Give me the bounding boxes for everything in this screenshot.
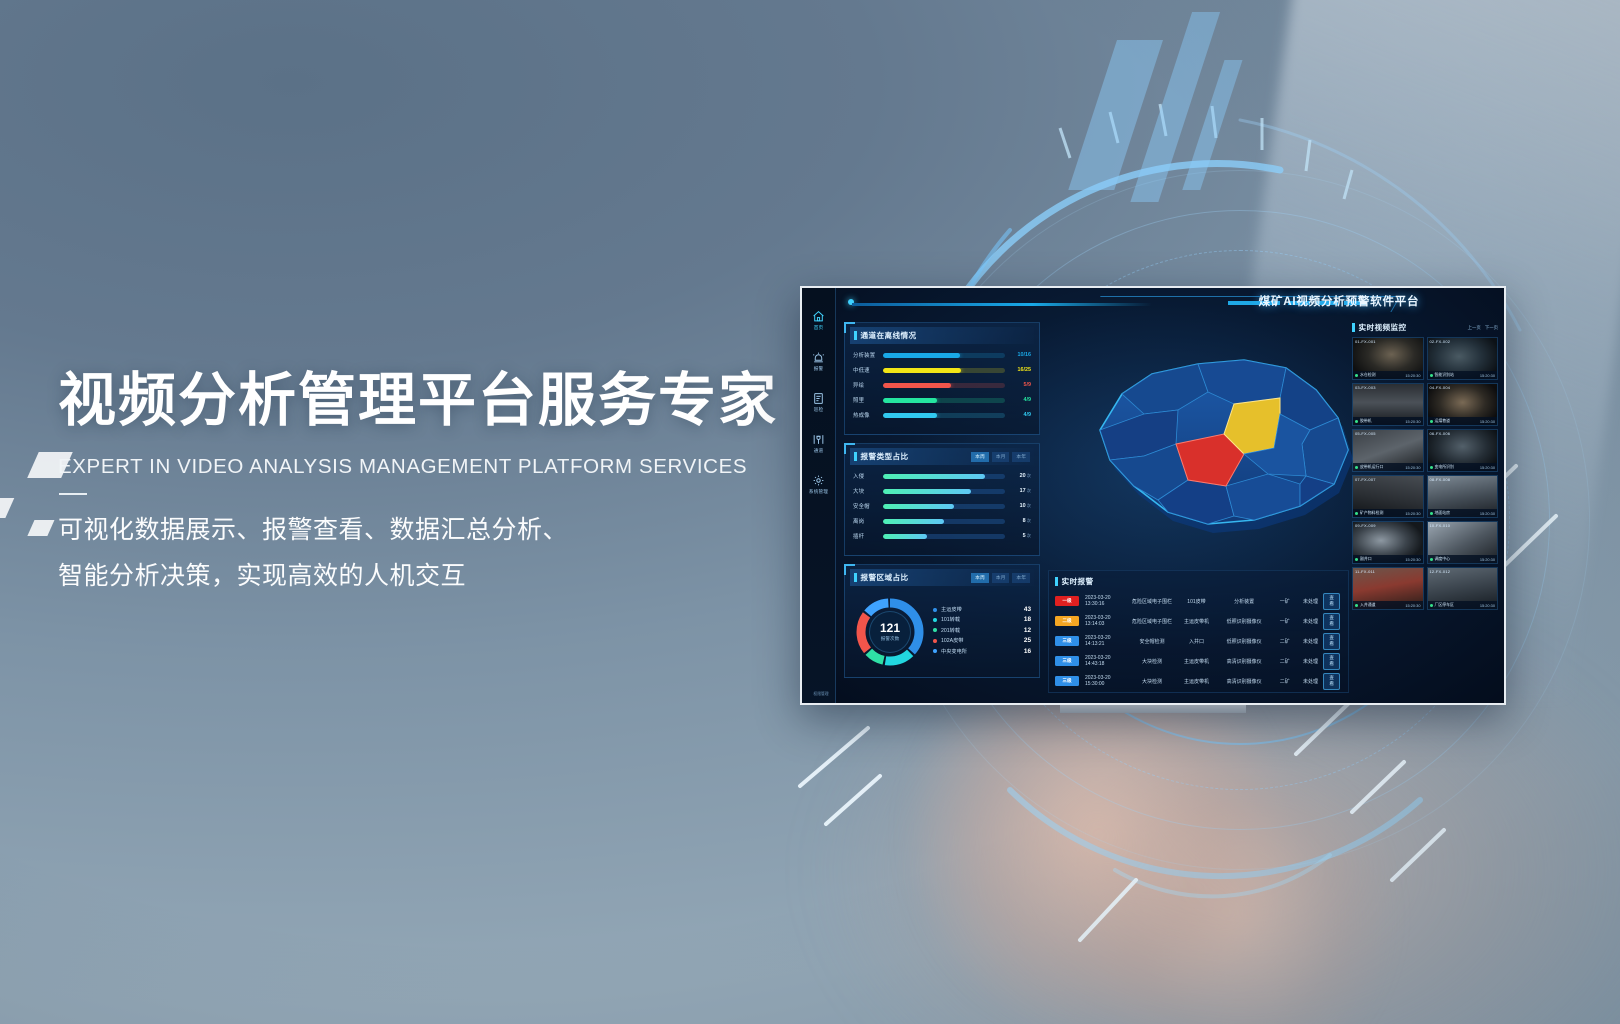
video-monitor-panel: 实时视频监控 上一页 下一页 01-FX-001 水仓检测 15:20:30 0… (1352, 322, 1498, 693)
alarm-action-cell: 查看 (1323, 593, 1342, 610)
video-panel-header: 实时视频监控 上一页 下一页 (1352, 322, 1498, 333)
video-tile-code: 11-FX-011 (1355, 569, 1375, 574)
channel-row-fill (883, 353, 960, 358)
video-status-dot (1355, 466, 1358, 469)
alarm-time: 2023-03-20 13:14:03 (1079, 615, 1128, 627)
dashboard-title: 煤矿AI视频分析预警软件平台 (1174, 288, 1504, 316)
video-status-dot (1355, 374, 1358, 377)
video-status-dot (1430, 466, 1433, 469)
video-tile[interactable]: 02-FX-002 智能识别站 15:20:30 (1427, 337, 1499, 380)
panel-tab[interactable]: 本年 (1012, 573, 1030, 583)
video-tile-footer: 入井通道 15:20:30 (1353, 601, 1423, 609)
video-tile-time: 15:20:30 (1480, 465, 1495, 470)
video-tile-time: 15:20:30 (1405, 419, 1420, 424)
channel-row-fill (883, 398, 937, 403)
sidebar-item-alarm[interactable]: 报警 (804, 351, 834, 372)
channel-row-label: 照里 (853, 396, 883, 404)
video-status-dot (1430, 374, 1433, 377)
video-tile[interactable]: 05-FX-005 皮带机运行口 15:20:30 (1352, 429, 1424, 472)
alarm-type: 大块检测 (1128, 678, 1177, 685)
sidebar-item-home[interactable]: 首页 (804, 310, 834, 331)
video-tile-footer: 调度中心 15:20:30 (1428, 555, 1498, 563)
alarm-type-row-value: 5 次 (1005, 533, 1031, 539)
alarm-type-title: 报警类型占比 (861, 451, 909, 462)
video-tile-name: 胶带机 (1360, 418, 1372, 424)
alarm-channel: 主运皮带机 (1177, 658, 1217, 665)
legend-label: 102A皮带 (941, 637, 1024, 644)
table-row[interactable]: 三级 2023-03-20 14:43:18 大块检测 主运皮带机 高清识别摄像… (1055, 651, 1342, 671)
legend-value: 16 (1024, 648, 1031, 655)
video-tile-footer: 水仓检测 15:20:30 (1353, 371, 1423, 379)
divider (59, 493, 87, 495)
video-tile[interactable]: 04-FX-004 运煤巷道 15:20:30 (1427, 383, 1499, 426)
legend-color-dot (933, 618, 937, 622)
legend-label: 主运皮带 (941, 606, 1024, 613)
dashboard-screen: 首页 报警 巡检 通道 系统管理 权限管理 (802, 288, 1504, 703)
alarm-icon (812, 351, 825, 364)
channel-row-value: 16/25 (1005, 367, 1031, 373)
video-tile-time: 15:20:30 (1480, 603, 1495, 608)
alarm-channel: 主运皮带机 (1177, 618, 1217, 625)
video-tile[interactable]: 06-FX-006 变电所识别 15:20:30 (1427, 429, 1499, 472)
title-accent-bar (854, 331, 857, 340)
realtime-alarm-panel: 实时报警 一级 2023-03-20 13:30:16 危险区域电子围栏 101… (1048, 570, 1349, 693)
alarm-status: 未处理 (1298, 618, 1324, 625)
status-badge: 三级 (1055, 676, 1079, 686)
video-tile-name: 厂区停车区 (1435, 602, 1454, 608)
alarm-type: 危险区域电子围栏 (1128, 598, 1177, 605)
hero-description-line-2: 智能分析决策，实现高效的人机交互 (58, 553, 818, 599)
alarm-time: 2023-03-20 14:43:18 (1079, 655, 1128, 667)
video-status-dot (1355, 420, 1358, 423)
alarm-action-cell: 查看 (1323, 673, 1342, 690)
video-tile-footer: 智能识别站 15:20:30 (1428, 371, 1498, 379)
video-status-dot (1430, 512, 1433, 515)
home-icon (812, 310, 825, 323)
channel-row-value: 5/9 (1005, 382, 1031, 388)
monitor-bezel: 首页 报警 巡检 通道 系统管理 权限管理 (800, 286, 1506, 705)
alarm-type-row: 离岗 8 次 (853, 517, 1031, 525)
alarm-type-row-value: 20 次 (1005, 473, 1031, 479)
donut-legend: 主运皮带 43 101转载 18 201转载 12 102A皮带 25 中央变电… (933, 606, 1031, 658)
video-tile-footer: 矿产物料检测 15:20:30 (1353, 509, 1423, 517)
channel-row-track (883, 413, 1005, 418)
alarm-action-cell: 查看 (1323, 613, 1342, 630)
legend-item[interactable]: 中央变电所 16 (933, 648, 1031, 655)
video-tile-footer: 胶带机 15:20:30 (1353, 417, 1423, 425)
video-tile-footer: 运煤巷道 15:20:30 (1428, 417, 1498, 425)
left-panel-column: 通道在离线情况 分析装置 10/16 中低速 16/25 异绘 5/9 照里 4… (844, 322, 1040, 686)
panel-tab[interactable]: 本周 (971, 573, 989, 583)
video-pager: 上一页 下一页 (1468, 325, 1498, 331)
video-tile-code: 05-FX-005 (1355, 431, 1376, 436)
alarm-channel: 入井口 (1177, 638, 1217, 645)
title-accent-bar (1055, 577, 1058, 586)
channel-row-label: 热成像 (853, 411, 883, 419)
alarm-type-row-label: 离岗 (853, 517, 883, 525)
dashboard-header: 煤矿AI视频分析预警软件平台 (836, 288, 1504, 318)
alarm-type-row-value: 10 次 (1005, 503, 1031, 509)
alarm-type-row-track (883, 489, 1005, 494)
monitor-stand (1060, 705, 1246, 713)
channel-row-track (883, 368, 1005, 373)
sidebar-item-system-label: 系统管理 (804, 489, 834, 495)
channel-row-fill (883, 368, 961, 373)
video-tile-footer: 厂区停车区 15:20:30 (1428, 601, 1498, 609)
legend-color-dot (933, 649, 937, 653)
channel-row-track (883, 398, 1005, 403)
alarm-action-cell: 查看 (1323, 633, 1342, 650)
alarm-type-row: 安全帽 10 次 (853, 502, 1031, 510)
video-tile-time: 15:20:30 (1405, 373, 1420, 378)
video-tile-time: 15:20:30 (1480, 511, 1495, 516)
alarm-area-tabs: 本周本月本年 (971, 573, 1030, 583)
legend-color-dot (933, 608, 937, 612)
alarm-type-tabs: 本周本月本年 (971, 452, 1030, 462)
channel-row-label: 异绘 (853, 381, 883, 389)
video-tile-time: 15:20:30 (1480, 373, 1495, 378)
sidebar-item-alarm-label: 报警 (804, 366, 834, 372)
video-status-dot (1355, 512, 1358, 515)
alarm-action-cell: 查看 (1323, 653, 1342, 670)
alarm-type-row-fill (883, 504, 954, 509)
alarm-type-row: 插杆 5 次 (853, 532, 1031, 540)
donut-center: 121 报警次数 (869, 611, 911, 653)
alarm-time: 2023-03-20 13:30:16 (1079, 595, 1128, 607)
alarm-type-row-value: 8 次 (1005, 518, 1031, 524)
video-tile-footer: 皮带机运行口 15:20:30 (1353, 463, 1423, 471)
gear-icon (812, 474, 825, 487)
view-button[interactable]: 查看 (1323, 633, 1340, 650)
channel-row-value: 4/9 (1005, 397, 1031, 403)
alarm-device: 高清识别摄像仪 (1216, 678, 1271, 685)
video-tile-code: 01-FX-001 (1355, 339, 1376, 344)
panel-tab[interactable]: 本周 (971, 452, 989, 462)
alarm-mine: 一矿 (1272, 618, 1298, 625)
table-row[interactable]: 二级 2023-03-20 13:14:03 危险区域电子围栏 主运皮带机 低照… (1055, 611, 1342, 631)
legend-value: 43 (1024, 606, 1031, 613)
alarm-type-row-label: 入侵 (853, 472, 883, 480)
video-tile-name: 变电所识别 (1435, 464, 1454, 470)
alarm-type-row-label: 安全帽 (853, 502, 883, 510)
legend-color-dot (933, 639, 937, 643)
status-badge: 二级 (1055, 616, 1079, 626)
alarm-type: 安全帽检测 (1128, 638, 1177, 645)
alarm-type-panel: 报警类型占比 本周本月本年 入侵 20 次 大块 17 次 安全帽 10 次 离… (844, 443, 1040, 556)
channel-row-label: 中低速 (853, 366, 883, 374)
realtime-alarm-title: 实时报警 (1062, 576, 1094, 587)
alarm-type-row-label: 插杆 (853, 532, 883, 540)
video-status-dot (1430, 420, 1433, 423)
table-row[interactable]: 一级 2023-03-20 13:30:16 危险区域电子围栏 101皮带 分析… (1055, 591, 1342, 611)
channel-row: 分析装置 10/16 (853, 351, 1031, 359)
video-tile-name: 智能识别站 (1435, 372, 1454, 378)
legend-value: 18 (1024, 616, 1031, 623)
alarm-status: 未处理 (1298, 598, 1324, 605)
video-tile-code: 04-FX-004 (1430, 385, 1451, 390)
title-accent-bar (854, 452, 857, 461)
alarm-type-unit: 次 (1026, 473, 1031, 478)
alarm-channel: 主运皮带机 (1177, 678, 1217, 685)
legend-value: 25 (1024, 637, 1031, 644)
channel-row-track (883, 383, 1005, 388)
video-tile-name: 副井口 (1360, 556, 1372, 562)
alarm-area-title: 报警区域占比 (861, 572, 909, 583)
video-tile[interactable]: 03-FX-003 胶带机 15:20:30 (1352, 383, 1424, 426)
video-tile[interactable]: 12-FX-012 厂区停车区 15:20:30 (1427, 567, 1499, 610)
channel-status-title: 通道在离线情况 (861, 330, 917, 341)
video-tile-code: 03-FX-003 (1355, 385, 1376, 390)
channel-row-fill (883, 413, 937, 418)
panel-tab[interactable]: 本月 (992, 573, 1010, 583)
legend-item[interactable]: 主运皮带 43 (933, 606, 1031, 613)
alarm-status: 未处理 (1298, 658, 1324, 665)
alarm-type-row-track (883, 519, 1005, 524)
channel-status-panel: 通道在离线情况 分析装置 10/16 中低速 16/25 异绘 5/9 照里 4… (844, 322, 1040, 435)
alarm-mine: 一矿 (1272, 598, 1298, 605)
channel-row: 照里 4/9 (853, 396, 1031, 404)
sidebar-item-channel[interactable]: 通道 (804, 433, 834, 454)
channel-row: 异绘 5/9 (853, 381, 1031, 389)
alarm-type-row-track (883, 474, 1005, 479)
video-tile[interactable]: 11-FX-011 入井通道 15:20:30 (1352, 567, 1424, 610)
sidebar-item-inspection-label: 巡检 (804, 407, 834, 413)
alarm-type-unit: 次 (1026, 518, 1031, 523)
alarm-area-panel: 报警区域占比 本周本月本年 121 报警次数 主运皮带 43 101转载 (844, 564, 1040, 678)
legend-label: 101转载 (941, 616, 1024, 623)
legend-color-dot (933, 628, 937, 632)
video-tile-time: 15:20:30 (1480, 419, 1495, 424)
video-next-page-button[interactable]: 下一页 (1485, 325, 1498, 331)
alarm-type-row-label: 大块 (853, 487, 883, 495)
alarm-time: 2023-03-20 14:13:21 (1079, 635, 1128, 647)
channel-status-rows: 分析装置 10/16 中低速 16/25 异绘 5/9 照里 4/9 热成像 4… (853, 351, 1031, 419)
video-tile-name: 运煤巷道 (1435, 418, 1451, 424)
alarm-type-unit: 次 (1026, 533, 1031, 538)
alarm-area-header: 报警区域占比 本周本月本年 (850, 569, 1034, 586)
alarm-type-row-value: 17 次 (1005, 488, 1031, 494)
view-button[interactable]: 查看 (1323, 593, 1340, 610)
legend-label: 中央变电所 (941, 648, 1024, 655)
alarm-time: 2023-03-20 15:30:00 (1079, 675, 1128, 687)
alarm-type-unit: 次 (1026, 488, 1031, 493)
channel-row-label: 分析装置 (853, 351, 883, 359)
alarm-mine: 二矿 (1272, 658, 1298, 665)
panel-tab[interactable]: 本年 (1012, 452, 1030, 462)
title-accent-bar (1352, 323, 1355, 332)
status-badge: 三级 (1055, 656, 1079, 666)
video-tile[interactable]: 08-FX-008 地面站房 15:20:30 (1427, 475, 1499, 518)
video-tile-code: 08-FX-008 (1430, 477, 1451, 482)
view-button[interactable]: 查看 (1323, 653, 1340, 670)
video-tile-time: 15:20:30 (1405, 465, 1420, 470)
realtime-alarm-header: 实时报警 (1055, 576, 1342, 587)
alarm-type-rows: 入侵 20 次 大块 17 次 安全帽 10 次 离岗 8 次 插杆 5 次 (853, 472, 1031, 540)
video-tile-code: 07-FX-007 (1355, 477, 1376, 482)
video-tile-time: 15:20:30 (1405, 511, 1420, 516)
legend-item[interactable]: 201转载 12 (933, 627, 1031, 634)
alarm-device: 分析装置 (1216, 598, 1271, 605)
video-status-dot (1430, 604, 1433, 607)
alarm-type-row-track (883, 504, 1005, 509)
alarm-status: 未处理 (1298, 638, 1324, 645)
video-tile-footer: 变电所识别 15:20:30 (1428, 463, 1498, 471)
alarm-type-row-fill (883, 519, 944, 524)
video-tile[interactable]: 01-FX-001 水仓检测 15:20:30 (1352, 337, 1424, 380)
alarm-device: 低照识别摄像仪 (1216, 618, 1271, 625)
video-prev-page-button[interactable]: 上一页 (1468, 325, 1481, 331)
video-status-dot (1355, 558, 1358, 561)
alarm-type-row-fill (883, 534, 927, 539)
video-tile-footer: 地面站房 15:20:30 (1428, 509, 1498, 517)
video-tile-name: 地面站房 (1435, 510, 1451, 516)
alarm-type: 大块检测 (1128, 658, 1177, 665)
video-tile-time: 15:20:30 (1405, 603, 1420, 608)
video-tile[interactable]: 07-FX-007 矿产物料检测 15:20:30 (1352, 475, 1424, 518)
legend-item[interactable]: 102A皮带 25 (933, 637, 1031, 644)
alarm-type-row-track (883, 534, 1005, 539)
alarm-status: 未处理 (1298, 678, 1324, 685)
video-tile-code: 10-FX-010 (1430, 523, 1451, 528)
channel-row-fill (883, 383, 951, 388)
channel-row-value: 4/9 (1005, 412, 1031, 418)
donut-chart: 121 报警次数 (853, 595, 927, 669)
video-tile-name: 调度中心 (1435, 556, 1451, 562)
video-tile-code: 12-FX-012 (1430, 569, 1451, 574)
sidebar-item-system[interactable]: 系统管理 (804, 474, 834, 495)
video-status-dot (1355, 604, 1358, 607)
channel-row-track (883, 353, 1005, 358)
alarm-type-unit: 次 (1026, 503, 1031, 508)
video-tile-time: 15:20:30 (1405, 557, 1420, 562)
dashboard-sidebar: 首页 报警 巡检 通道 系统管理 (802, 288, 836, 703)
channel-row: 热成像 4/9 (853, 411, 1031, 419)
video-tile[interactable]: 09-FX-009 副井口 15:20:30 (1352, 521, 1424, 564)
legend-label: 201转载 (941, 627, 1024, 634)
video-tile-name: 皮带机运行口 (1360, 464, 1383, 470)
alarm-mine: 二矿 (1272, 678, 1298, 685)
page-title: 视频分析管理平台服务专家 (58, 368, 818, 435)
legend-value: 12 (1024, 627, 1031, 634)
video-tile-time: 15:20:30 (1480, 557, 1495, 562)
view-button[interactable]: 查看 (1323, 613, 1340, 630)
realtime-alarm-rows: 一级 2023-03-20 13:30:16 危险区域电子围栏 101皮带 分析… (1055, 591, 1342, 691)
alarm-area-chart: 121 报警次数 主运皮带 43 101转载 18 201转载 12 102A皮… (853, 593, 1031, 669)
video-tile-name: 水仓检测 (1360, 372, 1376, 378)
hero-subtitle: EXPERT IN VIDEO ANALYSIS MANAGEMENT PLAT… (58, 455, 818, 479)
alarm-type: 危险区域电子围栏 (1128, 618, 1177, 625)
video-tile-code: 02-FX-002 (1430, 339, 1451, 344)
alarm-type-row: 大块 17 次 (853, 487, 1031, 495)
inspection-icon (812, 392, 825, 405)
channel-row: 中低速 16/25 (853, 366, 1031, 374)
video-tile-footer: 副井口 15:20:30 (1353, 555, 1423, 563)
video-tile-name: 矿产物料检测 (1360, 510, 1383, 516)
status-badge: 三级 (1055, 636, 1079, 646)
status-badge: 一级 (1055, 596, 1079, 606)
table-row[interactable]: 三级 2023-03-20 15:30:00 大块检测 主运皮带机 高清识别摄像… (1055, 671, 1342, 691)
alarm-type-header: 报警类型占比 本周本月本年 (850, 448, 1034, 465)
sidebar-item-channel-label: 通道 (804, 448, 834, 454)
video-tile-name: 入井通道 (1360, 602, 1376, 608)
panel-tab[interactable]: 本月 (992, 452, 1010, 462)
donut-caption: 报警次数 (881, 636, 899, 642)
title-accent-bar (854, 573, 857, 582)
hero-description-line-1: 可视化数据展示、报警查看、数据汇总分析、 (58, 507, 818, 553)
table-row[interactable]: 三级 2023-03-20 14:13:21 安全帽检测 入井口 低照识别摄像仪… (1055, 631, 1342, 651)
view-button[interactable]: 查看 (1323, 673, 1340, 690)
alarm-type-row-fill (883, 489, 971, 494)
video-panel-title: 实时视频监控 (1359, 322, 1407, 333)
channel-icon (812, 433, 825, 446)
video-tile-code: 06-FX-006 (1430, 431, 1451, 436)
hero-copy: 视频分析管理平台服务专家 EXPERT IN VIDEO ANALYSIS MA… (58, 368, 818, 599)
video-tile-grid: 01-FX-001 水仓检测 15:20:30 02-FX-002 智能识别站 … (1352, 337, 1498, 610)
channel-status-header: 通道在离线情况 (850, 327, 1034, 344)
alarm-mine: 二矿 (1272, 638, 1298, 645)
video-tile[interactable]: 10-FX-010 调度中心 15:20:30 (1427, 521, 1499, 564)
alarm-type-row-fill (883, 474, 985, 479)
video-status-dot (1430, 558, 1433, 561)
alarm-channel: 101皮带 (1177, 598, 1217, 605)
alarm-device: 低照识别摄像仪 (1216, 638, 1271, 645)
sidebar-footer-note: 权限管理 (808, 692, 834, 697)
legend-item[interactable]: 101转载 18 (933, 616, 1031, 623)
donut-total: 121 (880, 622, 900, 634)
sidebar-item-inspection[interactable]: 巡检 (804, 392, 834, 413)
sidebar-item-home-label: 首页 (804, 325, 834, 331)
alarm-type-row: 入侵 20 次 (853, 472, 1031, 480)
video-tile-code: 09-FX-009 (1355, 523, 1376, 528)
channel-row-value: 10/16 (1005, 352, 1031, 358)
alarm-device: 高清识别摄像仪 (1216, 658, 1271, 665)
